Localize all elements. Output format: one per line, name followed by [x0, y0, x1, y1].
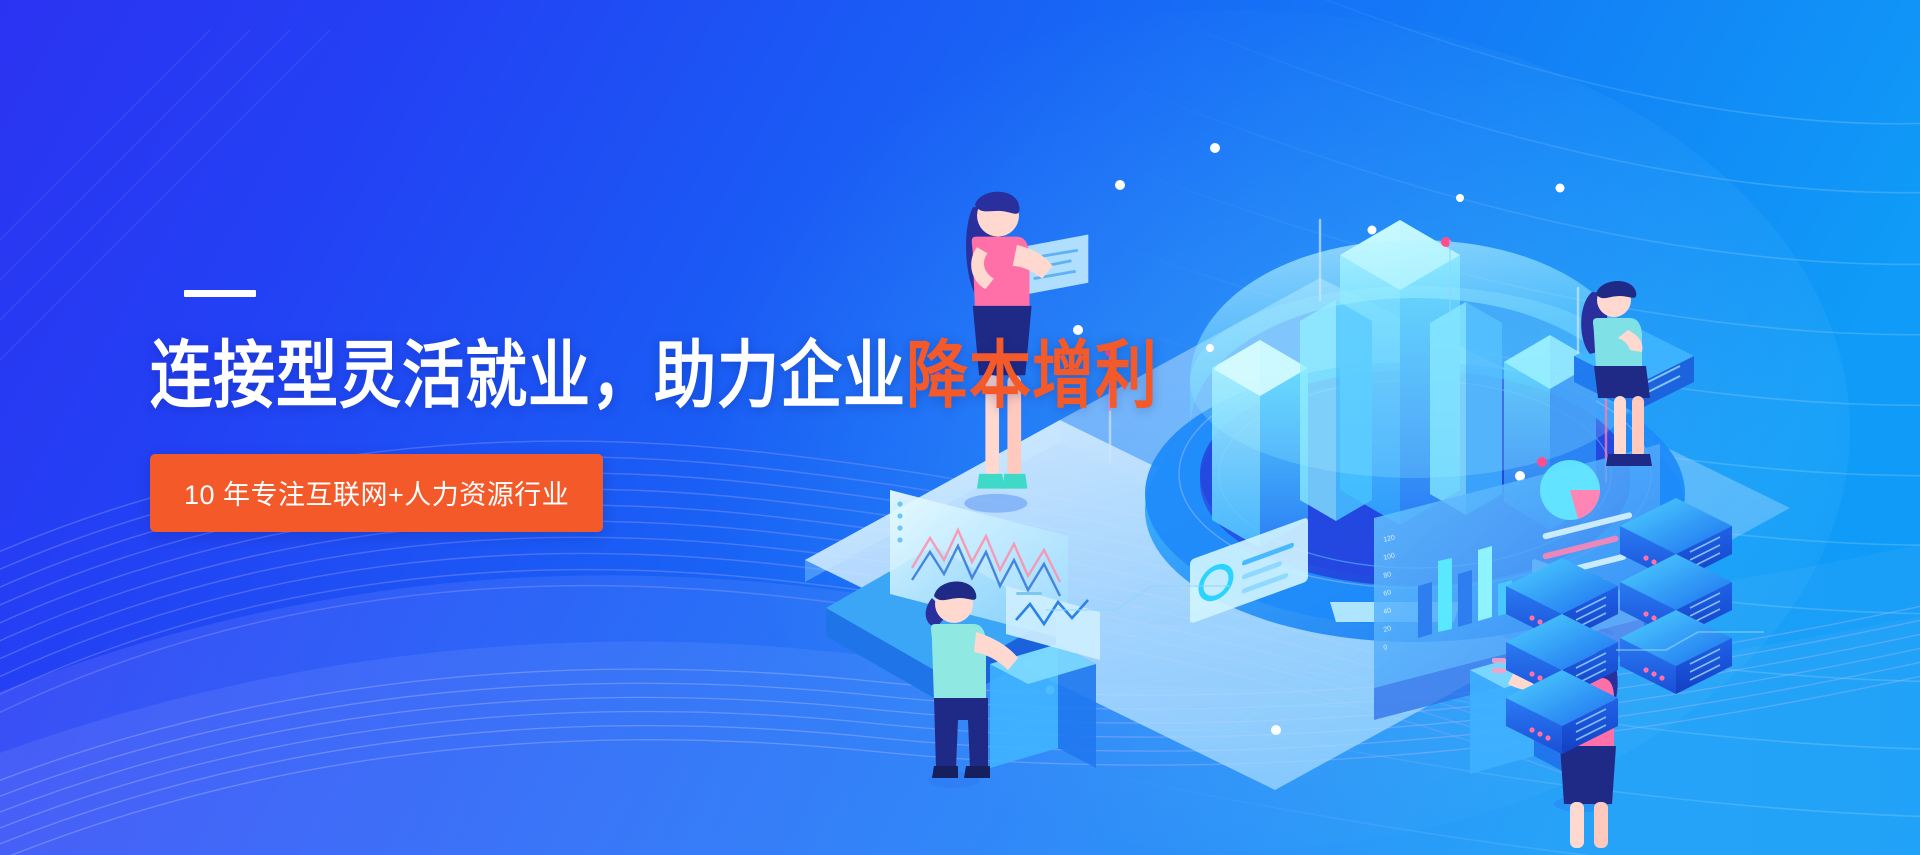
- hero-banner: 120 100 80 60 40 20 0: [0, 0, 1920, 855]
- man-at-kiosk-terminal: [926, 581, 1100, 788]
- headline-main: 连接型灵活就业，助力企业: [150, 335, 906, 416]
- page-title: 连接型灵活就业，助力企业降本增利: [150, 339, 1158, 414]
- headline-highlight: 降本增利: [906, 335, 1158, 416]
- decorative-rule: [184, 290, 256, 297]
- cta-button[interactable]: 10 年专注互联网+人力资源行业: [150, 454, 603, 532]
- hero-text-block: 连接型灵活就业，助力企业降本增利 10 年专注互联网+人力资源行业: [150, 290, 1158, 532]
- dashboard-pie-chart: [1540, 460, 1600, 520]
